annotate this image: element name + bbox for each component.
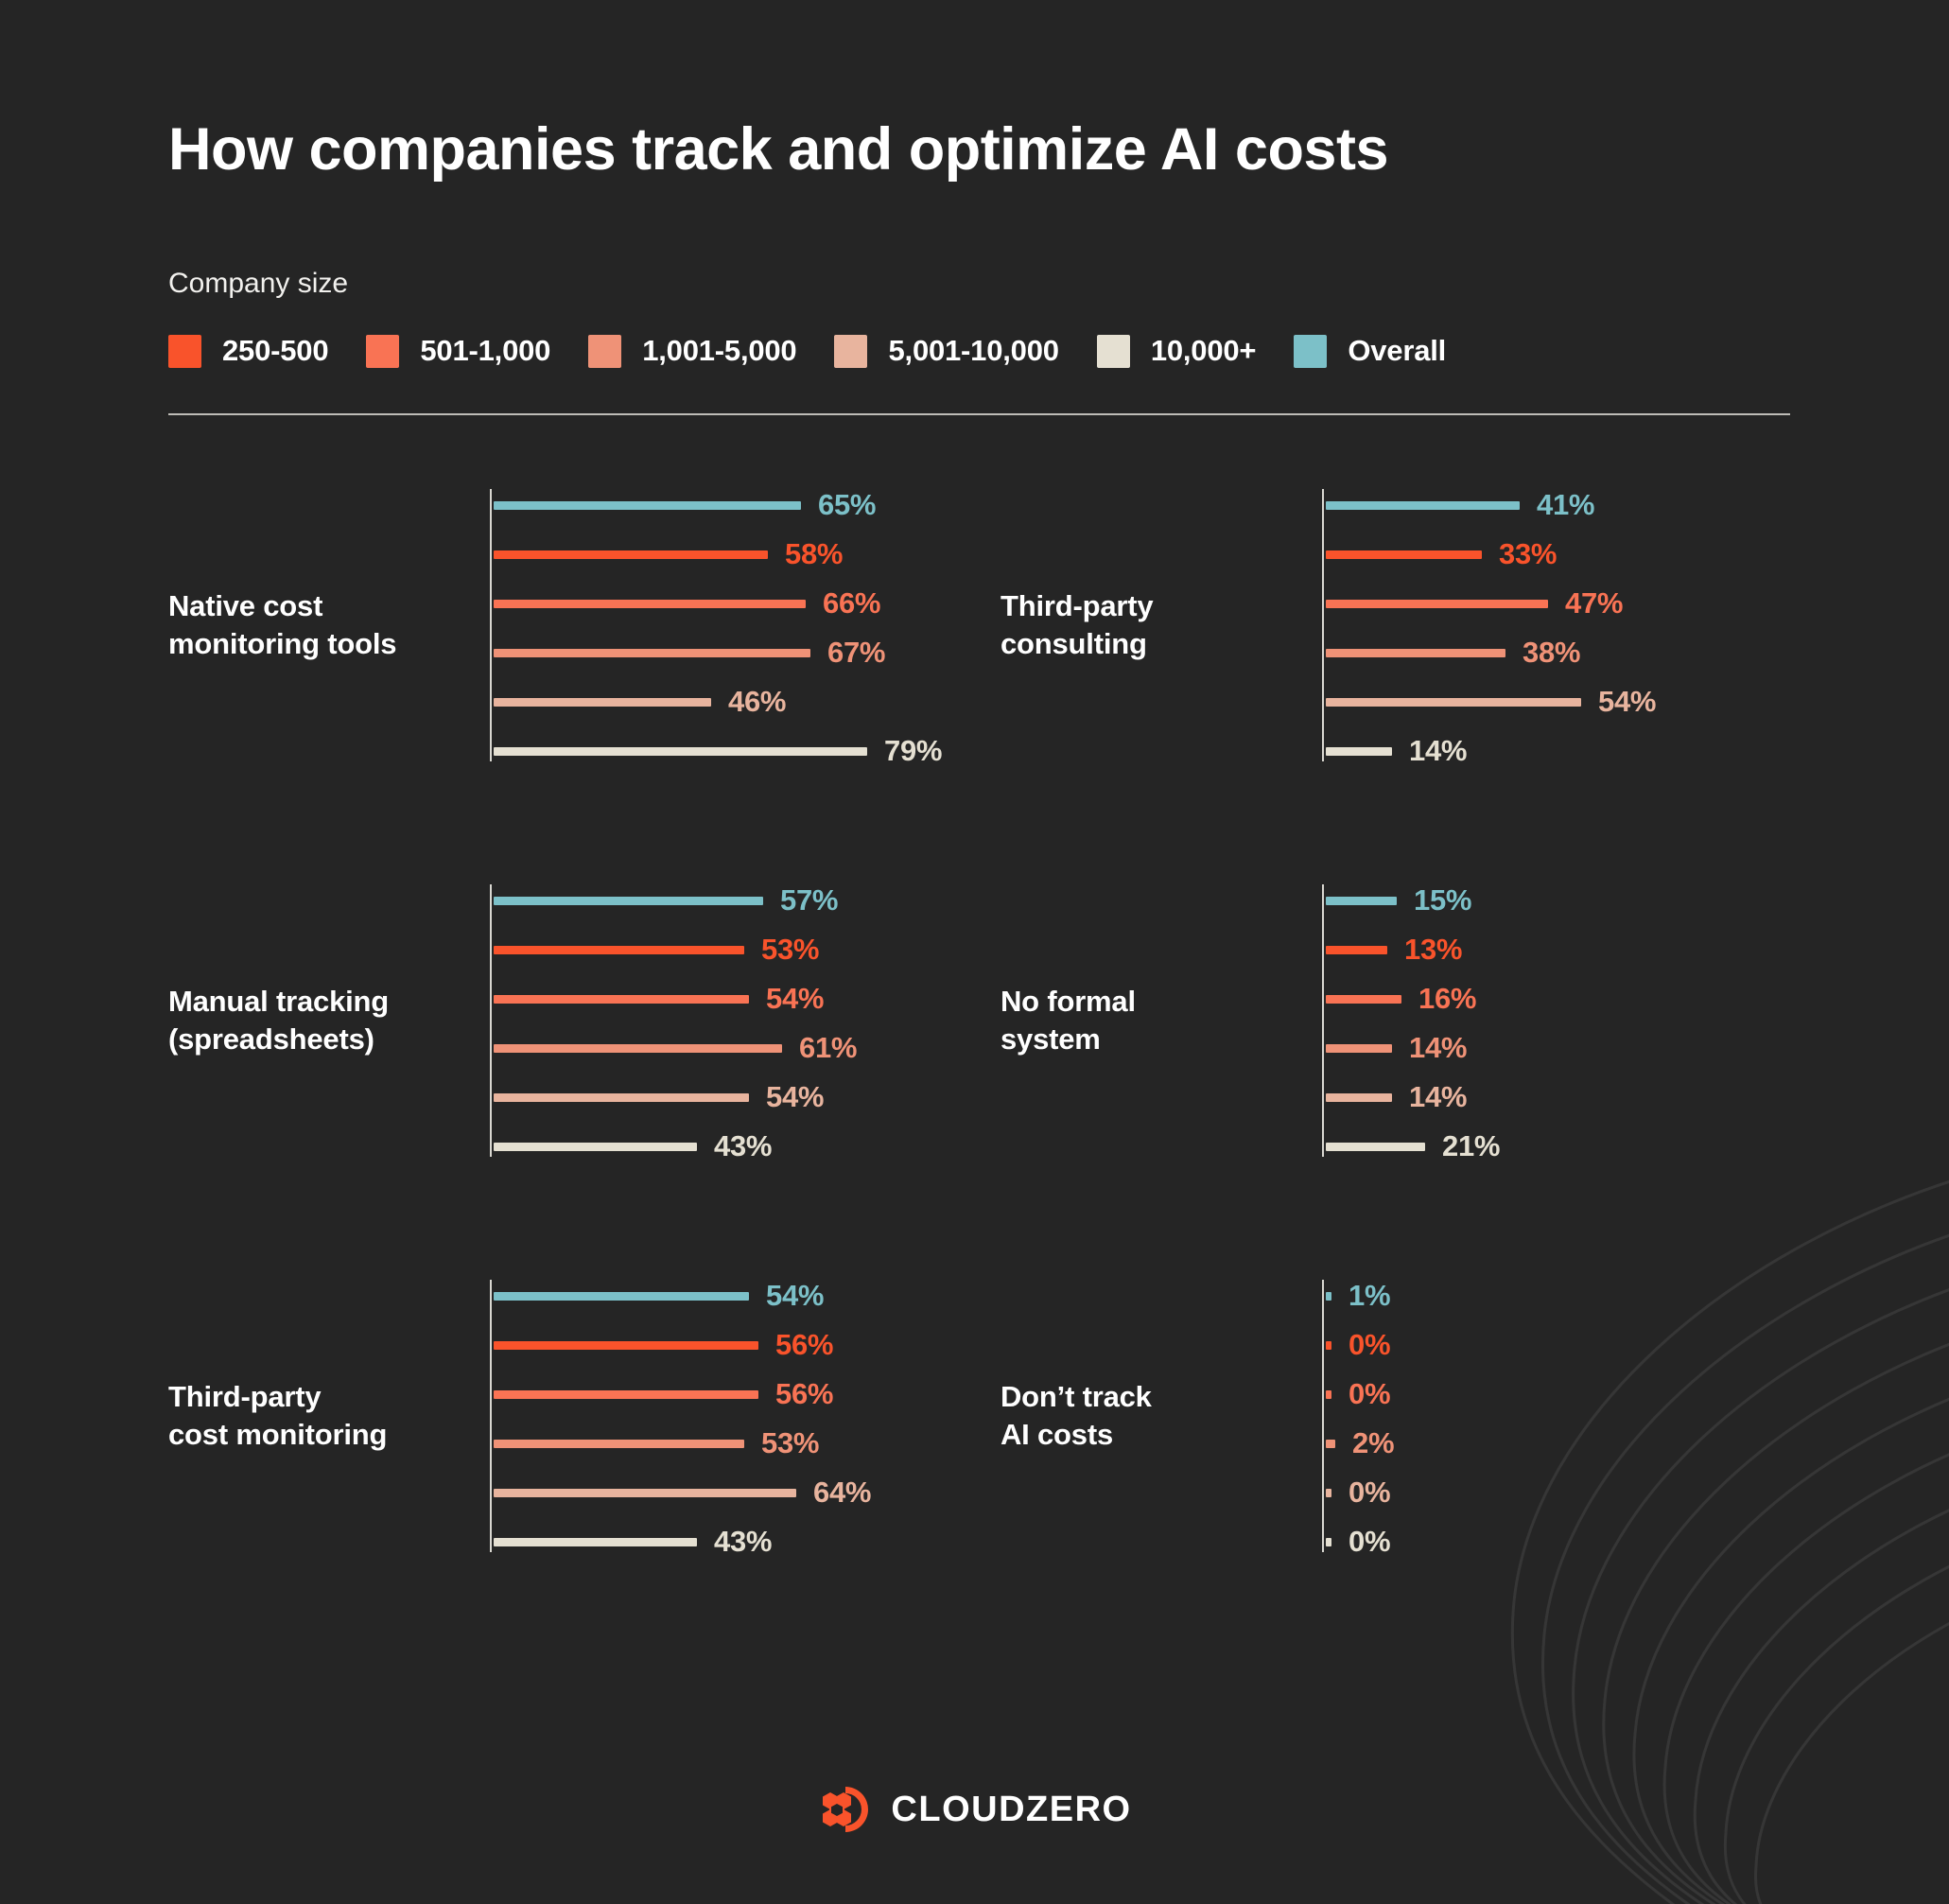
value-axis-line	[1322, 884, 1324, 1157]
legend-item-label: 1,001-5,000	[642, 334, 796, 368]
bar	[1326, 1143, 1425, 1151]
bar-row: 41%	[1326, 495, 1833, 515]
value-axis-line	[490, 489, 492, 761]
bar-value-label: 54%	[1598, 685, 1656, 719]
legend-item-1-001-5-000[interactable]: 1,001-5,000	[588, 334, 796, 368]
panel-plot-area: 65%58%66%67%46%79%	[490, 483, 1001, 767]
bar-value-label: 58%	[785, 537, 843, 571]
bar	[1326, 600, 1548, 608]
bar-row: 54%	[494, 988, 1001, 1009]
bar	[1326, 550, 1482, 559]
bar-row: 0%	[1326, 1384, 1833, 1405]
bar	[1326, 995, 1401, 1004]
chart-panel: Native cost monitoring tools65%58%66%67%…	[168, 464, 1001, 786]
bar-row: 33%	[1326, 544, 1833, 565]
bar	[494, 698, 711, 707]
bar	[494, 897, 763, 905]
bar-value-label: 56%	[775, 1328, 833, 1362]
bar	[1326, 1292, 1331, 1301]
bar-row: 43%	[494, 1531, 1001, 1552]
panel-category-label: Third-party consulting	[1001, 587, 1322, 664]
footer: CLOUDZERO	[0, 1783, 1949, 1836]
bar-row: 57%	[494, 890, 1001, 911]
bar-value-label: 13%	[1404, 933, 1462, 967]
bar	[1326, 1093, 1392, 1102]
bar-row: 15%	[1326, 890, 1833, 911]
chart-panel: No formal system15%13%16%14%14%21%	[1001, 860, 1833, 1181]
bar-row: 0%	[1326, 1335, 1833, 1355]
bar-value-label: 33%	[1499, 537, 1557, 571]
bar-rows: 41%33%47%38%54%14%	[1326, 483, 1833, 767]
legend-item-5-001-10-000[interactable]: 5,001-10,000	[834, 334, 1058, 368]
bar	[494, 946, 744, 954]
bar-value-label: 14%	[1409, 734, 1467, 768]
panel-category-label: Third-party cost monitoring	[168, 1378, 490, 1455]
bar-value-label: 21%	[1442, 1129, 1500, 1163]
bar-value-label: 0%	[1349, 1377, 1390, 1411]
bar-row: 79%	[494, 741, 1001, 761]
bar-value-label: 54%	[766, 1080, 824, 1114]
chart-panel: Manual tracking (spreadsheets)57%53%54%6…	[168, 860, 1001, 1181]
bar-row: 56%	[494, 1384, 1001, 1405]
bar	[1326, 1390, 1331, 1399]
bar-row: 64%	[494, 1482, 1001, 1503]
bar-row: 54%	[1326, 691, 1833, 712]
bar	[494, 649, 810, 657]
panel-plot-area: 1%0%0%2%0%0%	[1322, 1274, 1833, 1558]
value-axis-line	[1322, 1280, 1324, 1552]
bar	[494, 1292, 749, 1301]
bar	[494, 995, 749, 1004]
legend-title: Company size	[168, 268, 1949, 300]
page-content: How companies track and optimize AI cost…	[0, 0, 1949, 1577]
chart-panel: Don’t track AI costs1%0%0%2%0%0%	[1001, 1255, 1833, 1577]
bar	[1326, 1489, 1331, 1497]
bar-row: 67%	[494, 642, 1001, 663]
bar-rows: 15%13%16%14%14%21%	[1326, 879, 1833, 1162]
bar-rows: 1%0%0%2%0%0%	[1326, 1274, 1833, 1558]
bar	[494, 1538, 697, 1546]
bar-value-label: 0%	[1349, 1476, 1390, 1510]
bar	[1326, 1341, 1331, 1350]
bar	[494, 1440, 744, 1448]
bar-row: 38%	[1326, 642, 1833, 663]
legend-item-label: 250-500	[222, 334, 328, 368]
bar	[494, 1143, 697, 1151]
legend-item-label: 10,000+	[1151, 334, 1257, 368]
chart-grid: Native cost monitoring tools65%58%66%67%…	[168, 464, 1833, 1577]
bar	[494, 501, 801, 510]
bar-row: 66%	[494, 593, 1001, 614]
bar-value-label: 15%	[1414, 883, 1471, 917]
panel-plot-area: 54%56%56%53%64%43%	[490, 1274, 1001, 1558]
bar-value-label: 56%	[775, 1377, 833, 1411]
bar-row: 61%	[494, 1038, 1001, 1058]
bar-value-label: 16%	[1418, 982, 1476, 1016]
bar-row: 0%	[1326, 1531, 1833, 1552]
bar-row: 65%	[494, 495, 1001, 515]
bar-row: 16%	[1326, 988, 1833, 1009]
value-axis-line	[490, 1280, 492, 1552]
bar-value-label: 54%	[766, 1279, 824, 1313]
cloudzero-wordmark: CLOUDZERO	[891, 1790, 1131, 1830]
bar-row: 0%	[1326, 1482, 1833, 1503]
legend-item-501-1-000[interactable]: 501-1,000	[366, 334, 550, 368]
bar-value-label: 0%	[1349, 1328, 1390, 1362]
bar-row: 47%	[1326, 593, 1833, 614]
panel-plot-area: 41%33%47%38%54%14%	[1322, 483, 1833, 767]
bar-row: 21%	[1326, 1136, 1833, 1157]
bar-value-label: 2%	[1352, 1426, 1394, 1460]
bar-value-label: 0%	[1349, 1525, 1390, 1559]
bar	[494, 1489, 796, 1497]
bar	[494, 600, 806, 608]
bar-rows: 54%56%56%53%64%43%	[494, 1274, 1001, 1558]
legend-swatch-icon	[588, 335, 621, 368]
legend-swatch-icon	[1294, 335, 1327, 368]
bar	[494, 1093, 749, 1102]
bar-value-label: 38%	[1523, 636, 1580, 670]
bar	[494, 1044, 782, 1053]
panel-category-label: Native cost monitoring tools	[168, 587, 490, 664]
bar-row: 14%	[1326, 1087, 1833, 1108]
bar-row: 1%	[1326, 1285, 1833, 1306]
legend-item-250-500[interactable]: 250-500	[168, 334, 328, 368]
bar-rows: 65%58%66%67%46%79%	[494, 483, 1001, 767]
legend-item-overall[interactable]: Overall	[1294, 334, 1446, 368]
bar-value-label: 1%	[1349, 1279, 1390, 1313]
bar-row: 54%	[494, 1285, 1001, 1306]
bar	[494, 1341, 758, 1350]
chart-panel: Third-party consulting41%33%47%38%54%14%	[1001, 464, 1833, 786]
bar-value-label: 43%	[714, 1129, 772, 1163]
bar-row: 58%	[494, 544, 1001, 565]
bar-row: 14%	[1326, 1038, 1833, 1058]
panel-category-label: No formal system	[1001, 983, 1322, 1059]
bar-value-label: 64%	[813, 1476, 871, 1510]
bar-value-label: 61%	[799, 1031, 857, 1065]
bar-row: 14%	[1326, 741, 1833, 761]
bar-row: 2%	[1326, 1433, 1833, 1454]
page-title: How companies track and optimize AI cost…	[168, 118, 1949, 181]
legend-item-10-000-[interactable]: 10,000+	[1097, 334, 1257, 368]
panel-category-label: Manual tracking (spreadsheets)	[168, 983, 490, 1059]
bar-value-label: 67%	[827, 636, 885, 670]
bar-value-label: 57%	[780, 883, 838, 917]
bar	[1326, 1440, 1335, 1448]
cloudzero-mark-icon	[817, 1783, 870, 1836]
legend-item-label: 501-1,000	[420, 334, 550, 368]
bar-value-label: 53%	[761, 933, 819, 967]
bar	[1326, 747, 1392, 756]
bar-row: 43%	[494, 1136, 1001, 1157]
bar-value-label: 79%	[884, 734, 942, 768]
bar-row: 54%	[494, 1087, 1001, 1108]
bar-value-label: 14%	[1409, 1080, 1467, 1114]
legend-item-label: 5,001-10,000	[888, 334, 1058, 368]
legend-swatch-icon	[366, 335, 399, 368]
bar-value-label: 65%	[818, 488, 876, 522]
bar-value-label: 46%	[728, 685, 786, 719]
bar-value-label: 41%	[1537, 488, 1594, 522]
bar	[1326, 501, 1520, 510]
bar	[494, 1390, 758, 1399]
bar	[1326, 698, 1581, 707]
legend-swatch-icon	[1097, 335, 1130, 368]
bar-row: 53%	[494, 939, 1001, 960]
panel-plot-area: 15%13%16%14%14%21%	[1322, 879, 1833, 1162]
cloudzero-logo[interactable]: CLOUDZERO	[817, 1783, 1131, 1836]
bar	[1326, 897, 1397, 905]
bar	[1326, 946, 1387, 954]
bar	[1326, 649, 1505, 657]
bar-value-label: 66%	[823, 586, 880, 620]
bar-value-label: 54%	[766, 982, 824, 1016]
panel-plot-area: 57%53%54%61%54%43%	[490, 879, 1001, 1162]
bar-row: 53%	[494, 1433, 1001, 1454]
panel-category-label: Don’t track AI costs	[1001, 1378, 1322, 1455]
legend-swatch-icon	[834, 335, 867, 368]
chart-panel: Third-party cost monitoring54%56%56%53%6…	[168, 1255, 1001, 1577]
bar-row: 46%	[494, 691, 1001, 712]
value-axis-line	[490, 884, 492, 1157]
bar-value-label: 47%	[1565, 586, 1623, 620]
legend-swatch-icon	[168, 335, 201, 368]
header-divider	[168, 413, 1790, 415]
legend-item-label: Overall	[1348, 334, 1446, 368]
value-axis-line	[1322, 489, 1324, 761]
bar	[494, 747, 867, 756]
bar-value-label: 14%	[1409, 1031, 1467, 1065]
bar-value-label: 43%	[714, 1525, 772, 1559]
bar-row: 56%	[494, 1335, 1001, 1355]
infographic-root: How companies track and optimize AI cost…	[0, 0, 1949, 1904]
bar	[1326, 1538, 1331, 1546]
bar-rows: 57%53%54%61%54%43%	[494, 879, 1001, 1162]
bar	[1326, 1044, 1392, 1053]
bar	[494, 550, 768, 559]
bar-row: 13%	[1326, 939, 1833, 960]
bar-value-label: 53%	[761, 1426, 819, 1460]
legend: 250-500501-1,0001,001-5,0005,001-10,0001…	[168, 334, 1949, 368]
